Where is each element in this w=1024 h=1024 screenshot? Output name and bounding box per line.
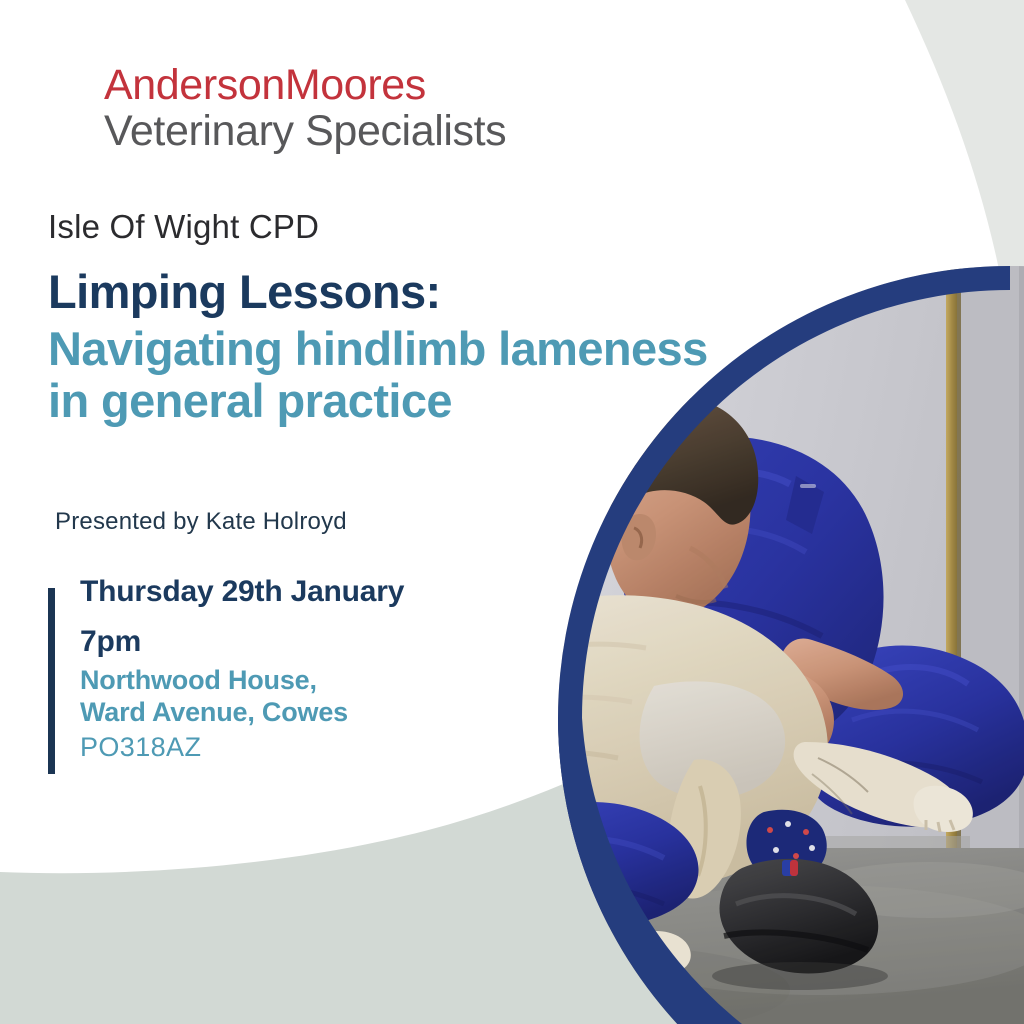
event-title-main: Limping Lessons: (48, 268, 441, 315)
logo-text-andersonmoores: AndersonMoores (104, 64, 506, 108)
details-text-group: Thursday 29th January 7pm Northwood Hous… (80, 576, 480, 763)
event-venue-line1: Northwood House, (80, 665, 480, 697)
event-venue-line2: Ward Avenue, Cowes (80, 697, 480, 729)
event-title-sub: Navigating hindlimb lameness in general … (48, 323, 708, 426)
event-title-sub-line2: in general practice (48, 375, 708, 427)
logo-text-veterinary-specialists: Veterinary Specialists (104, 110, 506, 154)
details-accent-bar (48, 588, 55, 774)
event-postcode: PO318AZ (80, 731, 480, 763)
presenter-line: Presented by Kate Holroyd (55, 508, 347, 536)
event-venue: Northwood House, Ward Avenue, Cowes (80, 665, 480, 729)
event-title-sub-line1: Navigating hindlimb lameness (48, 323, 708, 375)
poster-canvas: AndersonMoores Veterinary Specialists Is… (0, 0, 1024, 1024)
event-time: 7pm (80, 626, 480, 658)
brand-logo: AndersonMoores Veterinary Specialists (104, 64, 506, 154)
event-date: Thursday 29th January (80, 576, 480, 608)
event-kicker: Isle Of Wight CPD (48, 208, 319, 246)
